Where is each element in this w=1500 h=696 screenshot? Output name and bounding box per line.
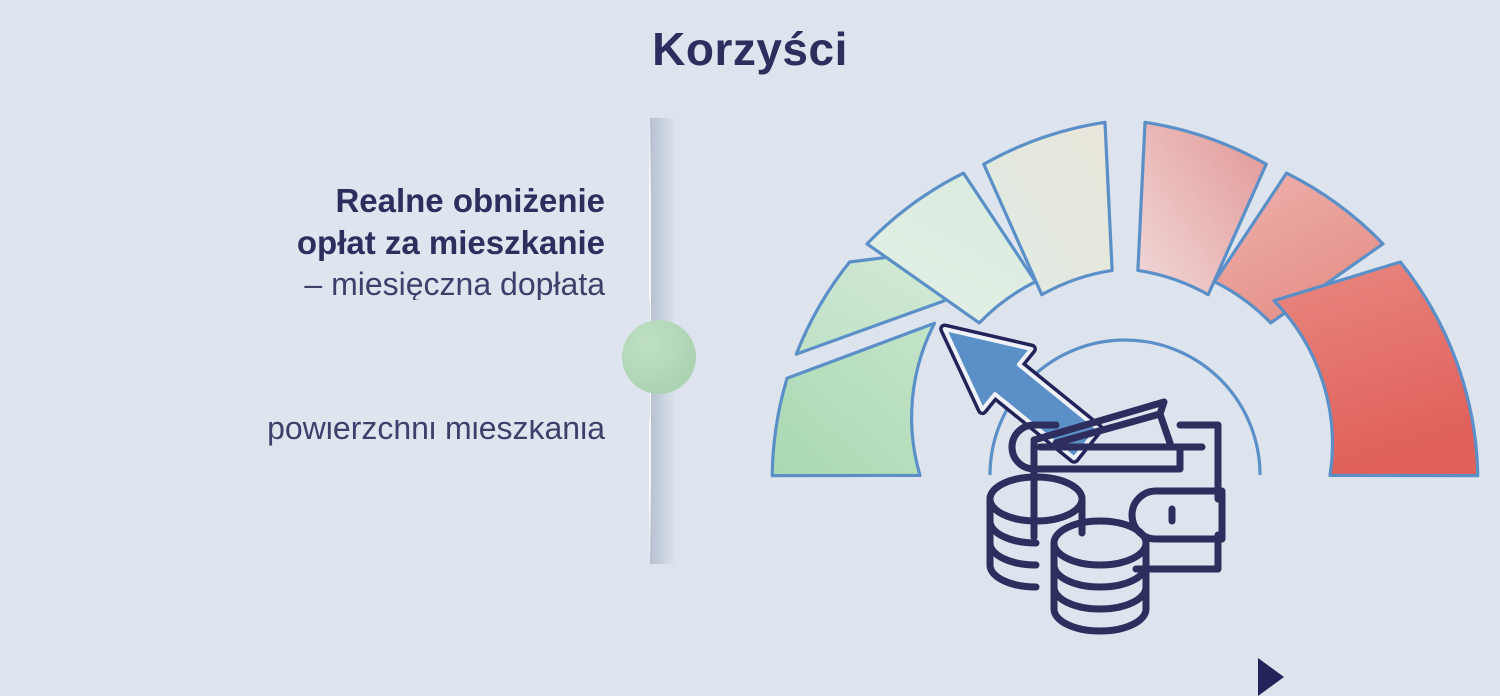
play-triangle-icon: [1258, 658, 1284, 696]
gauge-segment-6: [1274, 262, 1478, 476]
next-step-badge[interactable]: [622, 320, 696, 394]
benefit-body-line1: – miesięczna dopłata: [175, 264, 605, 305]
benefit-headline-line1: Realne obniżenie: [175, 180, 605, 222]
gauge-segment-0: [772, 323, 934, 475]
panel-mask: [0, 300, 650, 420]
gauge-chart: [760, 95, 1500, 635]
benefit-headline-line2: opłat za mieszkanie: [175, 222, 605, 264]
wallet-with-coins-icon: [990, 402, 1222, 631]
infographic-stage: Korzyści Realne obniżenie opłat za miesz…: [0, 0, 1500, 660]
page-title: Korzyści: [0, 22, 1500, 76]
